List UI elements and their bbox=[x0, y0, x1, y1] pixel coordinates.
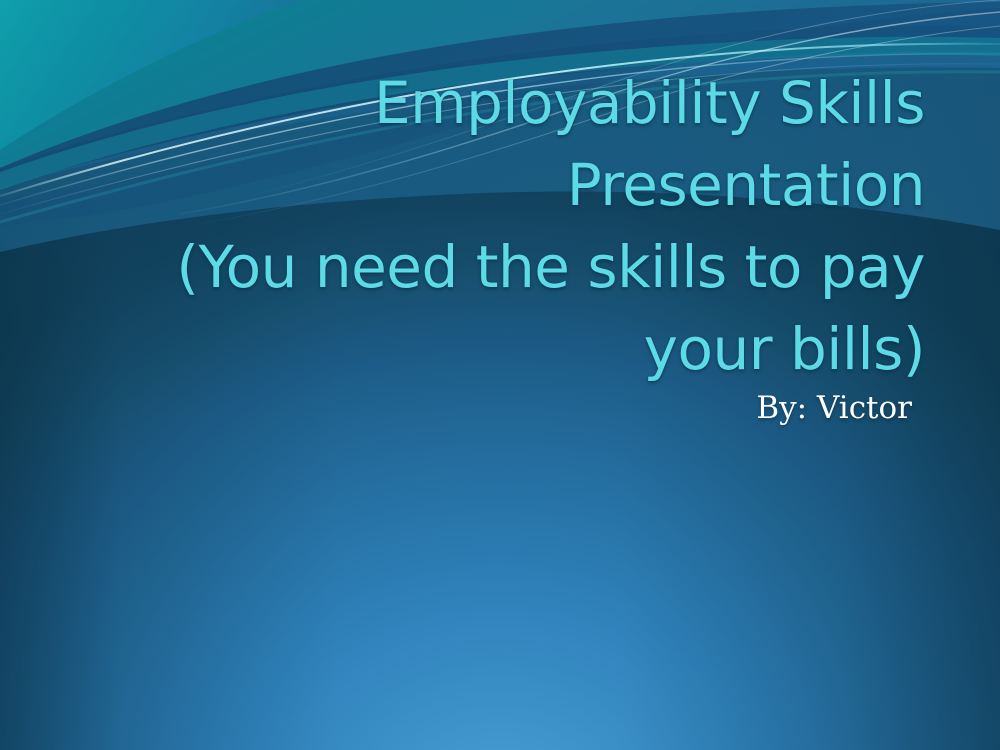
title-line-4: your bills) bbox=[105, 308, 925, 390]
subtitle-line-1: By: Victor bbox=[212, 388, 912, 428]
title-line-1: Employability Skills bbox=[105, 62, 925, 144]
title-line-2: Presentation bbox=[105, 144, 925, 226]
presentation-slide: Employability Skills Presentation (You n… bbox=[0, 0, 1000, 750]
title-line-3: (You need the skills to pay bbox=[105, 226, 925, 308]
slide-title: Employability Skills Presentation (You n… bbox=[105, 62, 925, 390]
slide-subtitle: By: Victor bbox=[212, 388, 912, 428]
